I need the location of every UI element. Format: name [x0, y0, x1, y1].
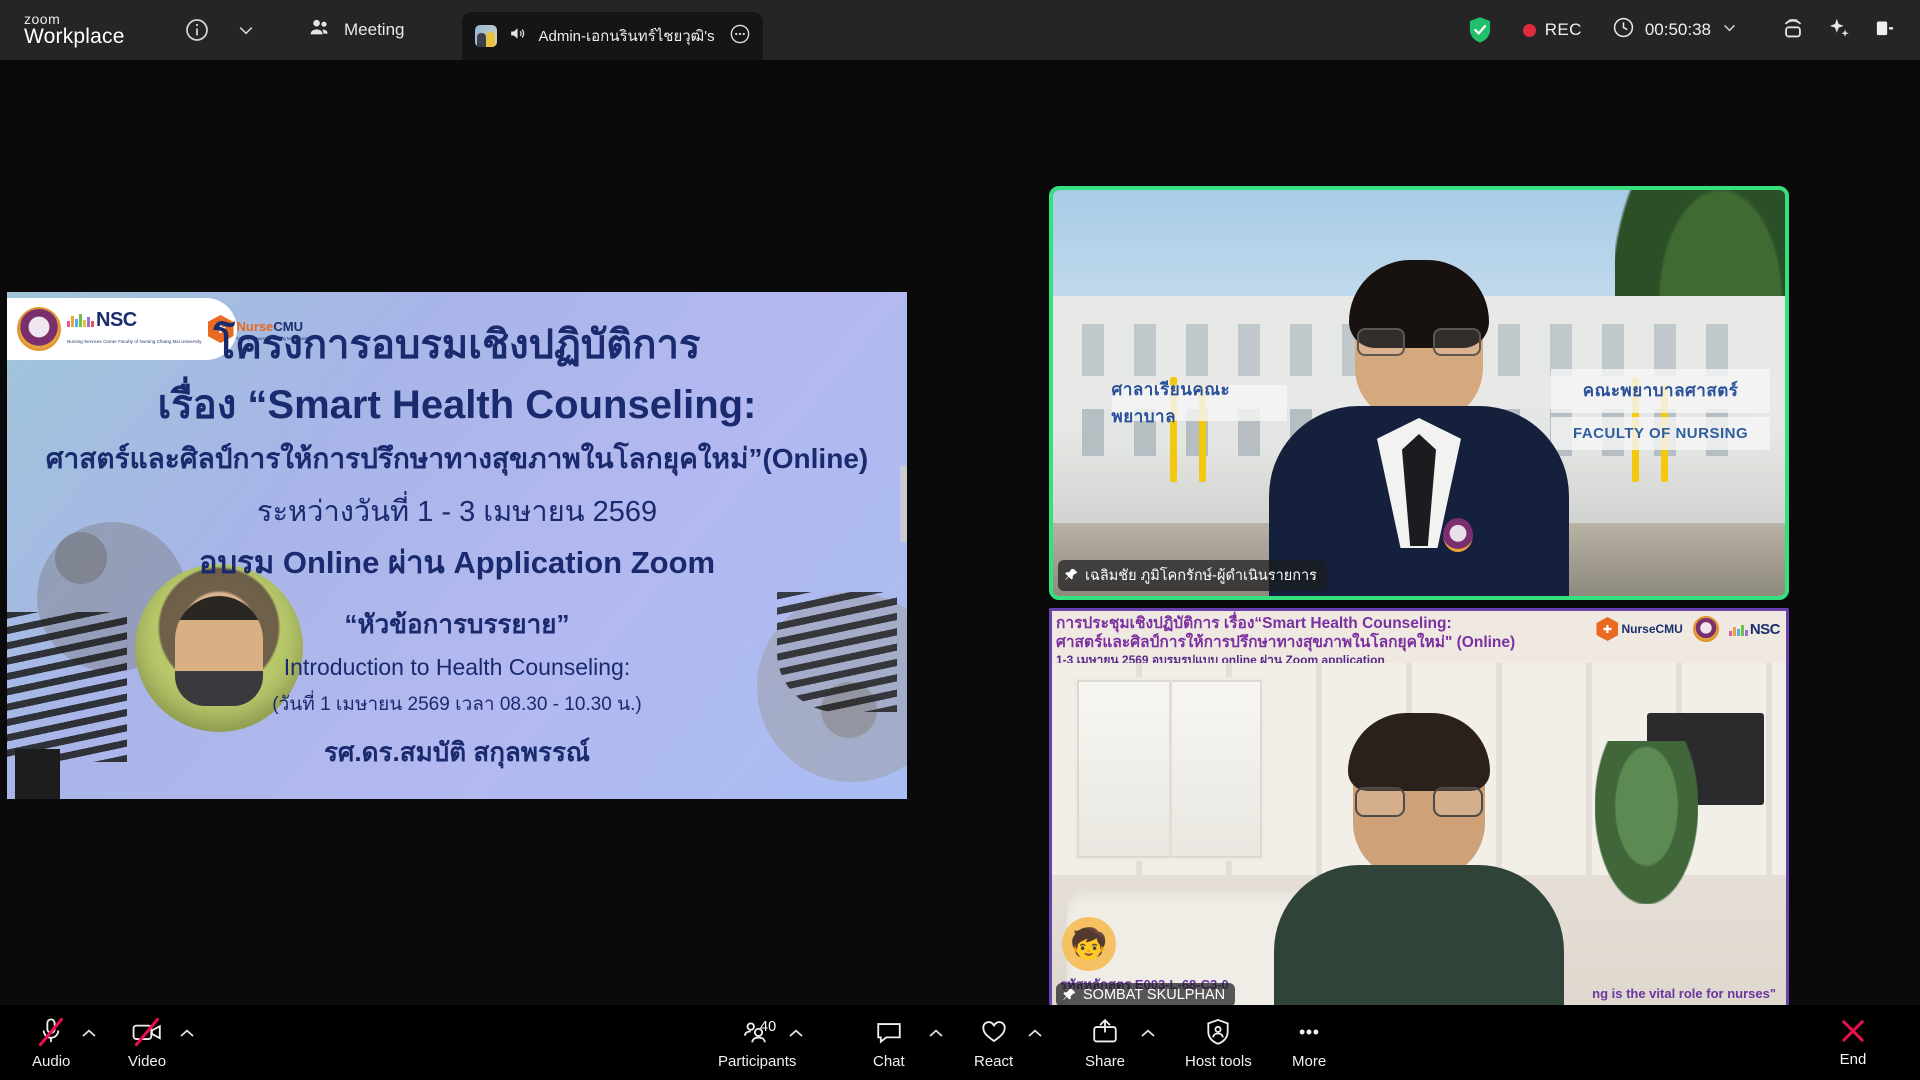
participant-person [1274, 717, 1564, 1017]
share-options-caret[interactable] [1141, 1027, 1155, 1040]
share-scrollbar[interactable] [900, 465, 907, 543]
shield-check-icon[interactable] [1467, 16, 1493, 44]
react-button[interactable]: React [974, 1015, 1013, 1070]
slide-overlay-header: การประชุมเชิงปฏิบัติการ เรื่อง“Smart Hea… [1052, 611, 1786, 663]
slide-line-4: ระหว่างวันที่ 1 - 3 เมษายน 2569 [7, 488, 907, 534]
meeting-toolbar: Audio Video [0, 1005, 1920, 1080]
participants-options-caret[interactable] [789, 1027, 803, 1040]
chat-bubble-icon [875, 1015, 903, 1049]
brand-workplace: Workplace [24, 26, 144, 48]
host-tools-label: Host tools [1185, 1053, 1252, 1070]
name-badge-participant-label: SOMBAT SKULPHAN [1083, 987, 1225, 1003]
clock-icon [1612, 16, 1635, 44]
tab-meeting-label: Meeting [344, 20, 404, 40]
building-sign-right-en: FACULTY OF NURSING [1551, 417, 1771, 449]
slide-line-5: อบรม Online ผ่าน Application Zoom [7, 537, 907, 587]
overlay-logo-group: ✚ NurseCMU NSC [1596, 616, 1780, 642]
building-sign-right-text: คณะพยาบาลศาสตร์ [1551, 369, 1771, 414]
host-person [1269, 266, 1569, 596]
cmu-seal-logo [1693, 616, 1719, 642]
zoom-logo: zoom Workplace [24, 12, 144, 49]
more-dots-icon [1294, 1015, 1324, 1049]
glasses-icon [1357, 328, 1481, 358]
avatar-sticker-icon: 🧒 [1062, 917, 1116, 971]
video-button[interactable]: Video [128, 1015, 166, 1070]
overlay-tagline: ng is the vital role for nurses" [1592, 986, 1776, 1001]
overlay-nursecmu-label: NurseCMU [1621, 623, 1682, 635]
building-sign-right-en-text: FACULTY OF NURSING [1551, 417, 1771, 449]
glasses-icon [1355, 787, 1483, 819]
nursecmu-hex-icon: ✚ [1596, 617, 1618, 641]
record-dot-icon [1523, 24, 1536, 37]
meeting-timer-value: 00:50:38 [1645, 20, 1711, 40]
more-label: More [1292, 1053, 1326, 1070]
audio-label: Audio [32, 1053, 70, 1070]
overlay-nsc-logo: NSC [1729, 622, 1780, 637]
people-icon [308, 16, 332, 45]
pin-icon [1065, 568, 1078, 583]
pin-icon [1063, 988, 1076, 1003]
participants-count: 40 [760, 1019, 776, 1035]
audio-options-caret[interactable] [82, 1027, 96, 1040]
top-bar: zoom Workplace Meeting [0, 0, 1920, 60]
recording-label: REC [1545, 20, 1582, 40]
brand-zoom: zoom [24, 12, 144, 27]
end-label: End [1840, 1051, 1867, 1068]
slide-line-6: “หัวข้อการบรรยาย” [7, 604, 907, 645]
side-panel-icon[interactable] [1872, 15, 1898, 46]
chat-button[interactable]: Chat [873, 1015, 905, 1070]
zoom-meeting-window: zoom Workplace Meeting [0, 0, 1920, 1080]
info-icon[interactable] [182, 15, 212, 45]
video-options-caret[interactable] [180, 1027, 194, 1040]
video-tile-participant[interactable]: การประชุมเชิงปฏิบัติการ เรื่อง“Smart Hea… [1049, 608, 1789, 1020]
more-button[interactable]: More [1292, 1015, 1326, 1070]
name-badge-host-label: เฉลิมชัย ภูมิโคกรักษ์-ผู้ดำเนินรายการ [1085, 564, 1317, 587]
shared-screen-slide[interactable]: NSC Nursing Services Center Faculty of N… [7, 292, 907, 799]
meeting-stage: NSC Nursing Services Center Faculty of N… [0, 60, 1920, 1005]
tab-shared-screen-label: Admin-เอกนรินทร์ไชยวุฒิ's scre [538, 24, 718, 48]
slide-line-8: (วันที่ 1 เมษายน 2569 เวลา 08.30 - 10.30… [7, 689, 907, 719]
overlay-nsc-label: NSC [1750, 622, 1780, 637]
share-thumbnail-icon [475, 25, 497, 47]
speaker-icon [508, 24, 527, 48]
slide-line-1: โครงการอบรมเชิงปฏิบัติการ [7, 312, 907, 376]
chevron-down-icon[interactable] [1721, 19, 1738, 41]
slide-line-9: รศ.ดร.สมบัติ สกุลพรรณ์ [7, 732, 907, 773]
react-options-caret[interactable] [1028, 1027, 1042, 1040]
shield-host-icon [1205, 1015, 1231, 1049]
video-tile-host[interactable]: ศาลาเรียนคณะพยาบาล คณะพยาบาลศาสตร์ FACUL… [1049, 186, 1789, 600]
share-screen-icon [1091, 1015, 1119, 1049]
slide-line-2: เรื่อง “Smart Health Counseling: [7, 372, 907, 436]
slide-text-block: โครงการอบรมเชิงปฏิบัติการ เรื่อง “Smart … [7, 292, 907, 799]
overlay-nursecmu-logo: ✚ NurseCMU [1596, 617, 1682, 641]
chat-options-caret[interactable] [929, 1027, 943, 1040]
recording-indicator[interactable]: REC [1523, 20, 1582, 40]
name-badge-host: เฉลิมชัย ภูมิโคกรักษ์-ผู้ดำเนินรายการ [1058, 560, 1327, 591]
name-badge-participant: SOMBAT SKULPHAN [1056, 983, 1235, 1007]
cast-icon[interactable] [1780, 15, 1806, 46]
participants-label: Participants [718, 1053, 796, 1070]
slide-line-7: Introduction to Health Counseling: [7, 654, 907, 681]
audio-button[interactable]: Audio [32, 1015, 70, 1070]
participants-button[interactable]: Participants [718, 1015, 796, 1070]
chat-label: Chat [873, 1053, 905, 1070]
top-bar-right-group: REC 00:50:38 [1467, 15, 1920, 46]
end-button[interactable]: End [1837, 1015, 1869, 1068]
share-label: Share [1085, 1053, 1125, 1070]
video-label: Video [128, 1053, 166, 1070]
share-button[interactable]: Share [1085, 1015, 1125, 1070]
nsc-bars-icon [1729, 623, 1748, 636]
camera-off-icon [131, 1015, 163, 1049]
slide-line-3: ศาสตร์และศิลป์การให้การปรึกษาทางสุขภาพใน… [7, 437, 907, 481]
tab-shared-screen[interactable]: Admin-เอกนรินทร์ไชยวุฒิ's scre [462, 12, 763, 60]
ai-sparkle-icon[interactable] [1826, 15, 1852, 46]
building-sign-left-text: ศาลาเรียนคณะพยาบาล [1112, 385, 1288, 422]
end-call-x-icon [1837, 1015, 1869, 1047]
host-tools-button[interactable]: Host tools [1185, 1015, 1252, 1070]
tab-meeting[interactable]: Meeting [298, 0, 414, 60]
building-sign-right: คณะพยาบาลศาสตร์ [1551, 369, 1771, 414]
video-feed-participant: 🧒 รหัสหลักสูตร E003-L-68-C3-0 ng is the … [1052, 663, 1786, 1017]
more-dots-icon[interactable] [729, 23, 751, 50]
reaction-heart-icon [980, 1015, 1008, 1049]
meeting-timer[interactable]: 00:50:38 [1612, 16, 1738, 44]
video-feed-host: ศาลาเรียนคณะพยาบาล คณะพยาบาลศาสตร์ FACUL… [1053, 190, 1785, 596]
chevron-down-icon[interactable] [234, 18, 258, 42]
react-label: React [974, 1053, 1013, 1070]
microphone-muted-icon [38, 1015, 64, 1049]
building-sign-left: ศาลาเรียนคณะพยาบาล [1112, 385, 1288, 422]
